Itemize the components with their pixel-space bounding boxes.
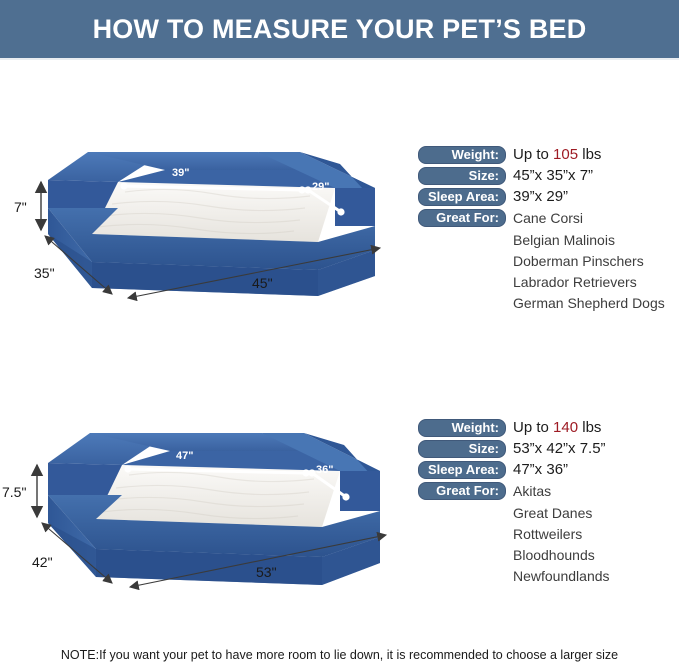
spec-value-sleep-area: 47”x 36”: [513, 461, 568, 479]
weight-prefix: Up to: [513, 146, 553, 163]
inner-depth-label: 29": [312, 181, 329, 193]
weight-suffix: lbs: [578, 146, 601, 163]
product-block-size-53: 47" 36" 7.5" 42" 53" Weight: [0, 405, 679, 615]
breed-item: Akitas: [513, 482, 551, 500]
bed-illustration-size-53: 47" 36" 7.5" 42" 53": [0, 405, 415, 615]
breed-item: Doberman Pinschers: [513, 251, 679, 272]
spec-row-size: Size: 53”x 42”x 7.5”: [418, 440, 679, 461]
header-underline: [0, 58, 679, 60]
bolster-right-side: [335, 188, 375, 226]
breed-item: Bloodhounds: [513, 545, 679, 566]
width-label: 45": [252, 275, 273, 291]
breed-list-size-45: Belgian Malinois Doberman Pinschers Labr…: [513, 230, 679, 314]
spec-table-size-53: Weight: Up to 140 lbs Size: 53”x 42”x 7.…: [418, 419, 679, 587]
inner-width-label: 39": [172, 167, 189, 179]
inner-width-label: 47": [176, 450, 193, 462]
spec-value-sleep-area: 39”x 29”: [513, 188, 568, 206]
spec-row-great-for: Great For: Akitas: [418, 482, 679, 503]
height-label: 7.5": [2, 484, 26, 500]
spec-value-size: 45”x 35”x 7”: [513, 167, 593, 185]
depth-label: 42": [32, 554, 53, 570]
weight-number: 105: [553, 146, 578, 163]
spec-row-sleep-area: Sleep Area: 39”x 29”: [418, 188, 679, 209]
outer-dimension-height: 7": [14, 182, 41, 230]
weight-prefix: Up to: [513, 419, 553, 436]
inner-depth-label: 36": [316, 464, 333, 476]
page-header-bar: HOW TO MEASURE YOUR PET’S BED: [0, 0, 679, 58]
weight-number: 140: [553, 419, 578, 436]
width-label: 53": [256, 564, 277, 580]
spec-label-size: Size:: [418, 167, 506, 185]
spec-row-sleep-area: Sleep Area: 47”x 36”: [418, 461, 679, 482]
spec-label-great-for: Great For:: [418, 209, 506, 227]
spec-value-weight: Up to 140 lbs: [513, 419, 601, 437]
bed-illustration-size-45: 39" 29" 7" 35" 45": [0, 130, 415, 330]
spec-row-great-for: Great For: Cane Corsi: [418, 209, 679, 230]
breed-item: Cane Corsi: [513, 209, 583, 227]
bed-diagram-svg: 39" 29" 7" 35" 45": [0, 130, 415, 330]
spec-label-size: Size:: [418, 440, 506, 458]
product-block-size-45: 39" 29" 7" 35" 45": [0, 130, 679, 330]
spec-label-great-for: Great For:: [418, 482, 506, 500]
breed-item: Labrador Retrievers: [513, 272, 679, 293]
spec-label-sleep-area: Sleep Area:: [418, 461, 506, 479]
spec-label-weight: Weight:: [418, 146, 506, 164]
bolster-right-side: [340, 471, 380, 511]
footer-note: NOTE:If you want your pet to have more r…: [0, 648, 679, 662]
breed-item: German Shepherd Dogs: [513, 293, 679, 314]
spec-value-size: 53”x 42”x 7.5”: [513, 440, 606, 458]
spec-table-size-45: Weight: Up to 105 lbs Size: 45”x 35”x 7”…: [418, 146, 679, 314]
depth-label: 35": [34, 265, 55, 281]
breed-item: Newfoundlands: [513, 566, 679, 587]
bed-diagram-svg: 47" 36" 7.5" 42" 53": [0, 405, 415, 615]
page-title: HOW TO MEASURE YOUR PET’S BED: [93, 14, 587, 45]
spec-value-weight: Up to 105 lbs: [513, 146, 601, 164]
spec-row-weight: Weight: Up to 140 lbs: [418, 419, 679, 440]
breed-item: Belgian Malinois: [513, 230, 679, 251]
outer-dimension-height: 7.5": [2, 465, 37, 517]
weight-suffix: lbs: [578, 419, 601, 436]
spec-row-size: Size: 45”x 35”x 7”: [418, 167, 679, 188]
height-label: 7": [14, 199, 27, 215]
breed-item: Great Danes: [513, 503, 679, 524]
spec-label-weight: Weight:: [418, 419, 506, 437]
spec-row-weight: Weight: Up to 105 lbs: [418, 146, 679, 167]
breed-item: Rottweilers: [513, 524, 679, 545]
spec-label-sleep-area: Sleep Area:: [418, 188, 506, 206]
breed-list-size-53: Great Danes Rottweilers Bloodhounds Newf…: [513, 503, 679, 587]
